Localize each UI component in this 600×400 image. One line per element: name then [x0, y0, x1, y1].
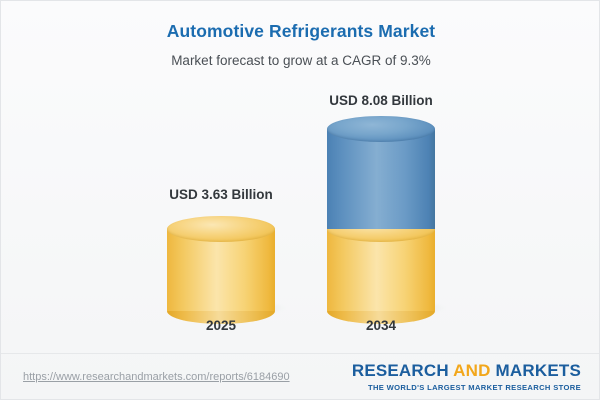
cylinder-segment-growth-2034 [327, 129, 435, 229]
report-url-link[interactable]: https://www.researchandmarkets.com/repor… [23, 371, 290, 383]
cylinder-segment-base-2025 [167, 229, 275, 311]
logo-word-research: RESEARCH [352, 361, 449, 380]
chart-card: Automotive Refrigerants Market Market fo… [0, 0, 600, 400]
footer-divider [1, 353, 600, 354]
chart-plot-area: USD 3.63 Billion 2025 USD 8.08 Billion [1, 1, 600, 346]
cylinder-top-ellipse [167, 216, 275, 242]
logo-tagline: THE WORLD'S LARGEST MARKET RESEARCH STOR… [352, 383, 581, 392]
value-label-2034: USD 8.08 Billion [281, 93, 481, 108]
logo-wordmark: RESEARCH AND MARKETS [352, 361, 581, 381]
value-label-2025: USD 3.63 Billion [121, 187, 321, 202]
cylinder-segment-base-2034 [327, 229, 435, 311]
logo-word-and: AND [453, 361, 490, 380]
research-and-markets-logo[interactable]: RESEARCH AND MARKETS THE WORLD'S LARGEST… [352, 361, 581, 392]
logo-word-markets: MARKETS [496, 361, 581, 380]
category-label-2034: 2034 [281, 318, 481, 333]
cylinder-2025 [167, 229, 275, 311]
cylinder-top-ellipse [327, 116, 435, 142]
cylinder-body [327, 129, 435, 229]
cylinder-2034 [327, 129, 435, 311]
